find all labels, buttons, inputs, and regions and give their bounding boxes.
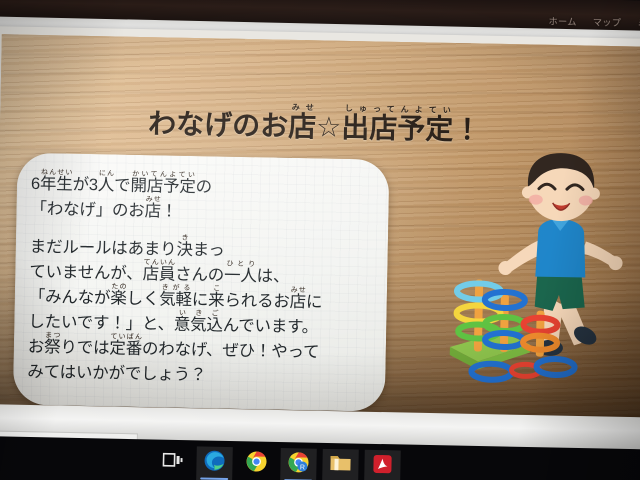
svg-text:R: R [300,464,305,471]
menu-item-map[interactable]: マップ [593,15,622,29]
taskbar-item-google-chrome[interactable] [238,447,275,480]
text-line: 6年生ねんせいが3人にんで開店予定かいてんよていの [31,175,212,196]
taskbar-item-google-chrome-2[interactable]: R [280,448,317,480]
acrobat-icon [370,452,394,475]
browser-menu[interactable]: ホーム マップ ミッショ [548,14,640,30]
text-line: お祭まつりでは定番ていばんのわなげ、ぜひ！やって [28,338,320,362]
text-line: みてはいかがでしょう？ [27,363,206,384]
edge-icon [202,448,226,471]
taskbar-item-adobe-acrobat[interactable] [364,450,401,480]
page-title: わなげのお店みせ☆出店予定しゅってんよてい！ [148,100,482,148]
taskbar-item-task-view[interactable] [154,446,191,480]
taskbar-app-list: R [154,446,401,480]
taskbar-item-microsoft-edge[interactable] [196,446,233,480]
menu-item-home[interactable]: ホーム [548,14,577,28]
text-line: 「わなげ」のお店みせ！ [30,200,177,221]
text-line: したいです！」と、意気込いきごんでいます。 [28,313,318,337]
taskbar-item-file-explorer[interactable] [322,449,359,480]
task-view-icon [160,448,184,471]
chrome-icon-2: R [286,450,310,473]
text-line: まだルールはあまり決きまっ [30,238,225,260]
text-line: ていませんが、店員てんいんさんの一人ひとりは、 [29,263,289,286]
slide-canvas: わなげのお店みせ☆出店予定しゅってんよてい！ 6年生ねんせいが3人にんで開店予定… [0,34,640,426]
chrome-icon [244,449,268,472]
folder-icon [328,451,352,474]
speech-text-panel: 6年生ねんせいが3人にんで開店予定かいてんよていの「わなげ」のお店みせ！ まだル… [13,153,390,412]
slide-frame: わなげのお店みせ☆出店予定しゅってんよてい！ 6年生ねんせいが3人にんで開店予定… [0,26,640,435]
paragraph-intro: 6年生ねんせいが3人にんで開店予定かいてんよていの「わなげ」のお店みせ！ [30,169,375,229]
ring-toss-set [443,261,585,389]
paragraph-body: まだルールはあまり決きまっていませんが、店員てんいんさんの一人ひとりは、「みんな… [27,232,374,392]
text-line: 「みんなが楽たのしく気軽きがるに来こられるお店みせに [29,288,323,312]
boy-ring-toss-illustration [443,143,640,412]
photographed-screen: ホーム マップ ミッショ わなげのお店みせ☆出店予定しゅってんよてい！ 6年生ね… [0,0,640,480]
